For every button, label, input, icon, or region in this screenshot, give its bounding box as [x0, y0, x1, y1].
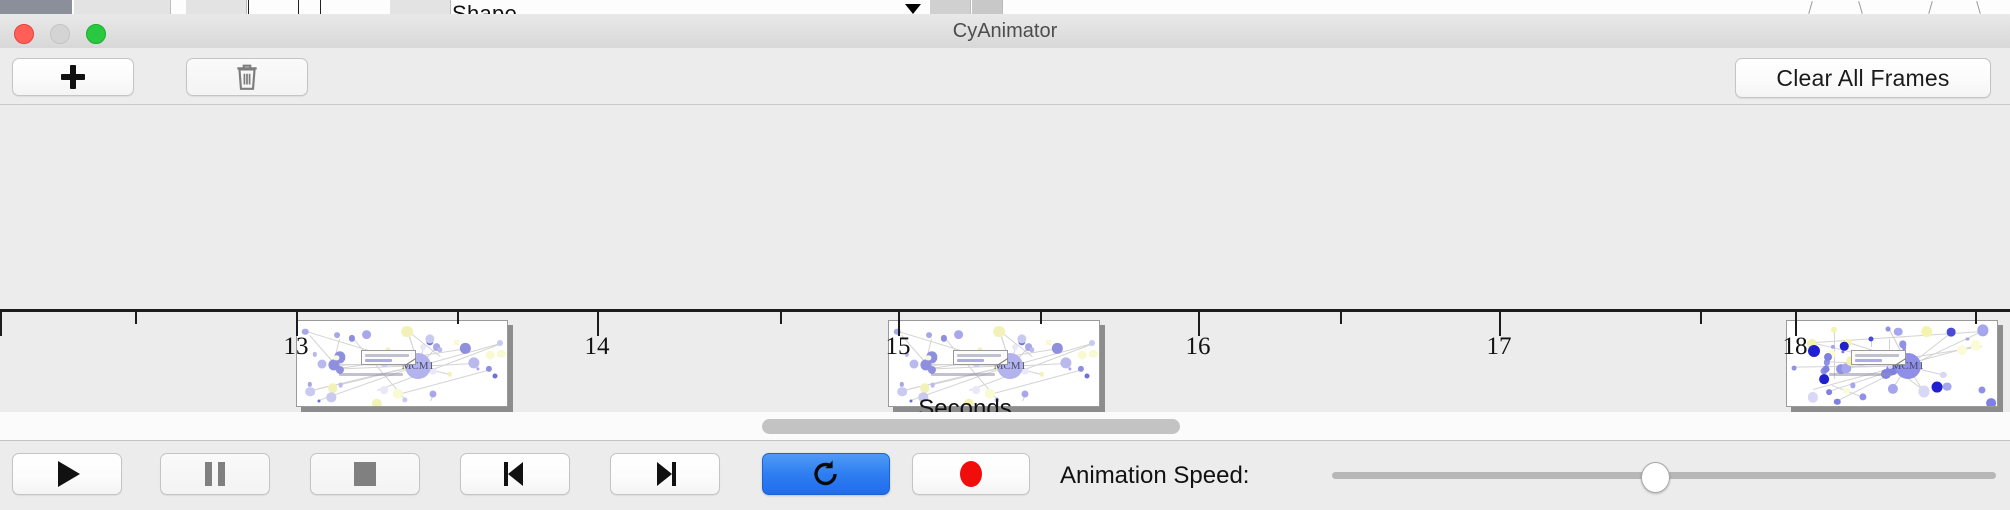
network-node	[328, 383, 338, 393]
network-node	[1971, 340, 1981, 350]
network-node	[486, 366, 492, 372]
axis-title-text: Seconds	[918, 395, 1011, 413]
network-node	[1841, 350, 1844, 353]
network-node	[1084, 374, 1089, 379]
background-tick	[320, 0, 321, 14]
network-node	[1940, 372, 1946, 378]
network-node	[993, 326, 1005, 338]
frame-caption-text	[931, 373, 995, 376]
record-icon	[960, 461, 982, 487]
network-node	[1888, 384, 1898, 394]
callout-text-line	[365, 359, 393, 362]
axis-tick	[0, 312, 2, 336]
animation-speed-slider[interactable]	[1332, 441, 1996, 510]
network-node	[1823, 366, 1830, 373]
network-node	[1831, 327, 1837, 333]
network-node	[1068, 367, 1071, 370]
add-frame-button[interactable]	[12, 58, 134, 96]
network-node	[1089, 350, 1097, 358]
axis-tick-label: 13	[284, 333, 309, 361]
network-node	[380, 386, 388, 394]
axis-tick-label: 18	[1783, 333, 1808, 361]
timeline-frame[interactable]: MCM1	[296, 320, 508, 407]
frame-caption-text	[339, 373, 403, 376]
timeline-axis-line	[0, 309, 2010, 312]
network-node	[954, 330, 964, 340]
title-bar[interactable]: CyAnimator	[0, 14, 2010, 49]
clear-all-frames-button[interactable]: Clear All Frames	[1735, 58, 1991, 98]
network-node	[362, 330, 372, 340]
network-node	[1979, 386, 1986, 393]
axis-tick	[1975, 312, 1977, 324]
window-title: CyAnimator	[0, 14, 2010, 48]
network-node	[317, 359, 326, 368]
network-node	[1078, 350, 1087, 359]
callout-text-line	[957, 354, 1002, 357]
network-node	[1957, 345, 1967, 355]
delete-frame-button[interactable]	[186, 58, 308, 96]
timeline-frame[interactable]: MCM1	[888, 320, 1100, 407]
axis-tick	[1040, 312, 1042, 324]
timeline-horizontal-scrollbar[interactable]	[0, 412, 2010, 441]
playback-control-bar: Animation Speed:	[0, 441, 2010, 510]
record-button[interactable]	[912, 453, 1030, 495]
network-node	[1947, 328, 1956, 337]
network-node	[1886, 327, 1891, 332]
axis-tick	[135, 312, 137, 324]
network-node	[1894, 327, 1903, 336]
timeline-panel[interactable]: MCM1MCM1MCM1 2131415161718 Seconds	[0, 105, 2010, 413]
pause-icon	[205, 462, 225, 486]
background-slash	[1976, 1, 1981, 14]
network-node	[313, 352, 317, 356]
axis-tick	[457, 312, 459, 324]
network-node	[401, 326, 413, 338]
frame-caption-text	[1829, 373, 1893, 376]
background-caret-icon	[905, 4, 921, 14]
callout-text-line	[365, 354, 410, 357]
scrollbar-thumb[interactable]	[762, 419, 1180, 434]
skip-forward-icon	[654, 462, 676, 486]
network-node	[486, 350, 495, 359]
background-chip	[930, 0, 971, 14]
background-tick	[248, 0, 249, 14]
background-window-label: Shape	[452, 1, 517, 15]
network-node	[1045, 339, 1052, 346]
network-node	[476, 367, 479, 370]
network-node	[492, 374, 497, 379]
slider-thumb[interactable]	[1641, 462, 1670, 493]
network-node	[926, 332, 932, 338]
network-node	[497, 350, 505, 358]
stop-button[interactable]	[310, 453, 420, 495]
network-node	[334, 332, 340, 338]
background-chip	[186, 0, 247, 14]
network-node	[1978, 325, 1989, 336]
network-node	[1921, 326, 1933, 338]
network-node	[448, 372, 452, 376]
axis-tick	[1700, 312, 1702, 324]
axis-tick-label: 14	[585, 333, 610, 361]
background-window-dark-chip	[0, 0, 72, 14]
network-node	[1089, 340, 1095, 346]
network-node	[1012, 344, 1018, 350]
background-chip	[390, 0, 451, 14]
network-node	[920, 383, 930, 393]
animation-speed-label: Animation Speed:	[1060, 441, 1249, 510]
network-node	[1843, 388, 1849, 394]
network-node	[930, 383, 935, 388]
axis-title: Seconds	[0, 395, 2010, 413]
callout-text-line	[1855, 359, 1883, 362]
background-slash	[1808, 1, 1813, 14]
background-slash	[1858, 1, 1863, 14]
frame-network-thumbnail: MCM1	[297, 321, 507, 406]
axis-tick-label: 15	[886, 333, 911, 361]
plus-icon	[60, 64, 86, 90]
callout-text-line	[957, 359, 985, 362]
network-node	[1819, 374, 1829, 384]
axis-tick-label: 16	[1186, 333, 1211, 361]
timeline-frame[interactable]: MCM1	[1786, 320, 1998, 407]
frame-network-thumbnail: MCM1	[889, 321, 1099, 406]
loop-icon	[811, 459, 841, 489]
stop-icon	[354, 462, 376, 486]
background-chip	[74, 0, 171, 14]
play-icon	[58, 461, 80, 487]
skip-to-end-button[interactable]	[610, 453, 720, 495]
network-node	[972, 386, 980, 394]
network-node	[497, 340, 503, 346]
network-node	[1850, 383, 1855, 388]
background-slash	[1928, 1, 1933, 14]
network-node	[1040, 372, 1044, 376]
network-node	[1824, 353, 1832, 361]
axis-tick	[1340, 312, 1342, 324]
skip-to-start-button[interactable]	[460, 453, 570, 495]
background-tick	[298, 0, 299, 14]
background-chip	[972, 0, 1003, 14]
axis-tick	[780, 312, 782, 324]
frame-network-thumbnail: MCM1	[1787, 321, 1997, 406]
network-node	[1792, 365, 1797, 370]
background-window-sliver: Shape	[0, 0, 2010, 15]
callout-text-line	[1855, 354, 1900, 357]
play-button[interactable]	[12, 453, 122, 495]
skip-back-icon	[504, 462, 526, 486]
network-node	[420, 344, 426, 350]
network-node	[338, 383, 343, 388]
cyanimator-window: Shape CyAnimator Clear All Frames MCM1MC…	[0, 0, 2010, 510]
network-node	[1808, 345, 1820, 357]
loop-button[interactable]	[762, 453, 890, 495]
network-node	[1932, 381, 1943, 392]
pause-button[interactable]	[160, 453, 270, 495]
network-node	[1943, 382, 1952, 391]
frame-toolbar: Clear All Frames	[0, 48, 2010, 105]
network-node	[453, 339, 460, 346]
trash-icon	[234, 63, 260, 91]
network-node	[1078, 366, 1084, 372]
network-node	[1869, 337, 1874, 342]
axis-tick-label: 17	[1487, 333, 1512, 361]
network-node	[1966, 337, 1969, 340]
